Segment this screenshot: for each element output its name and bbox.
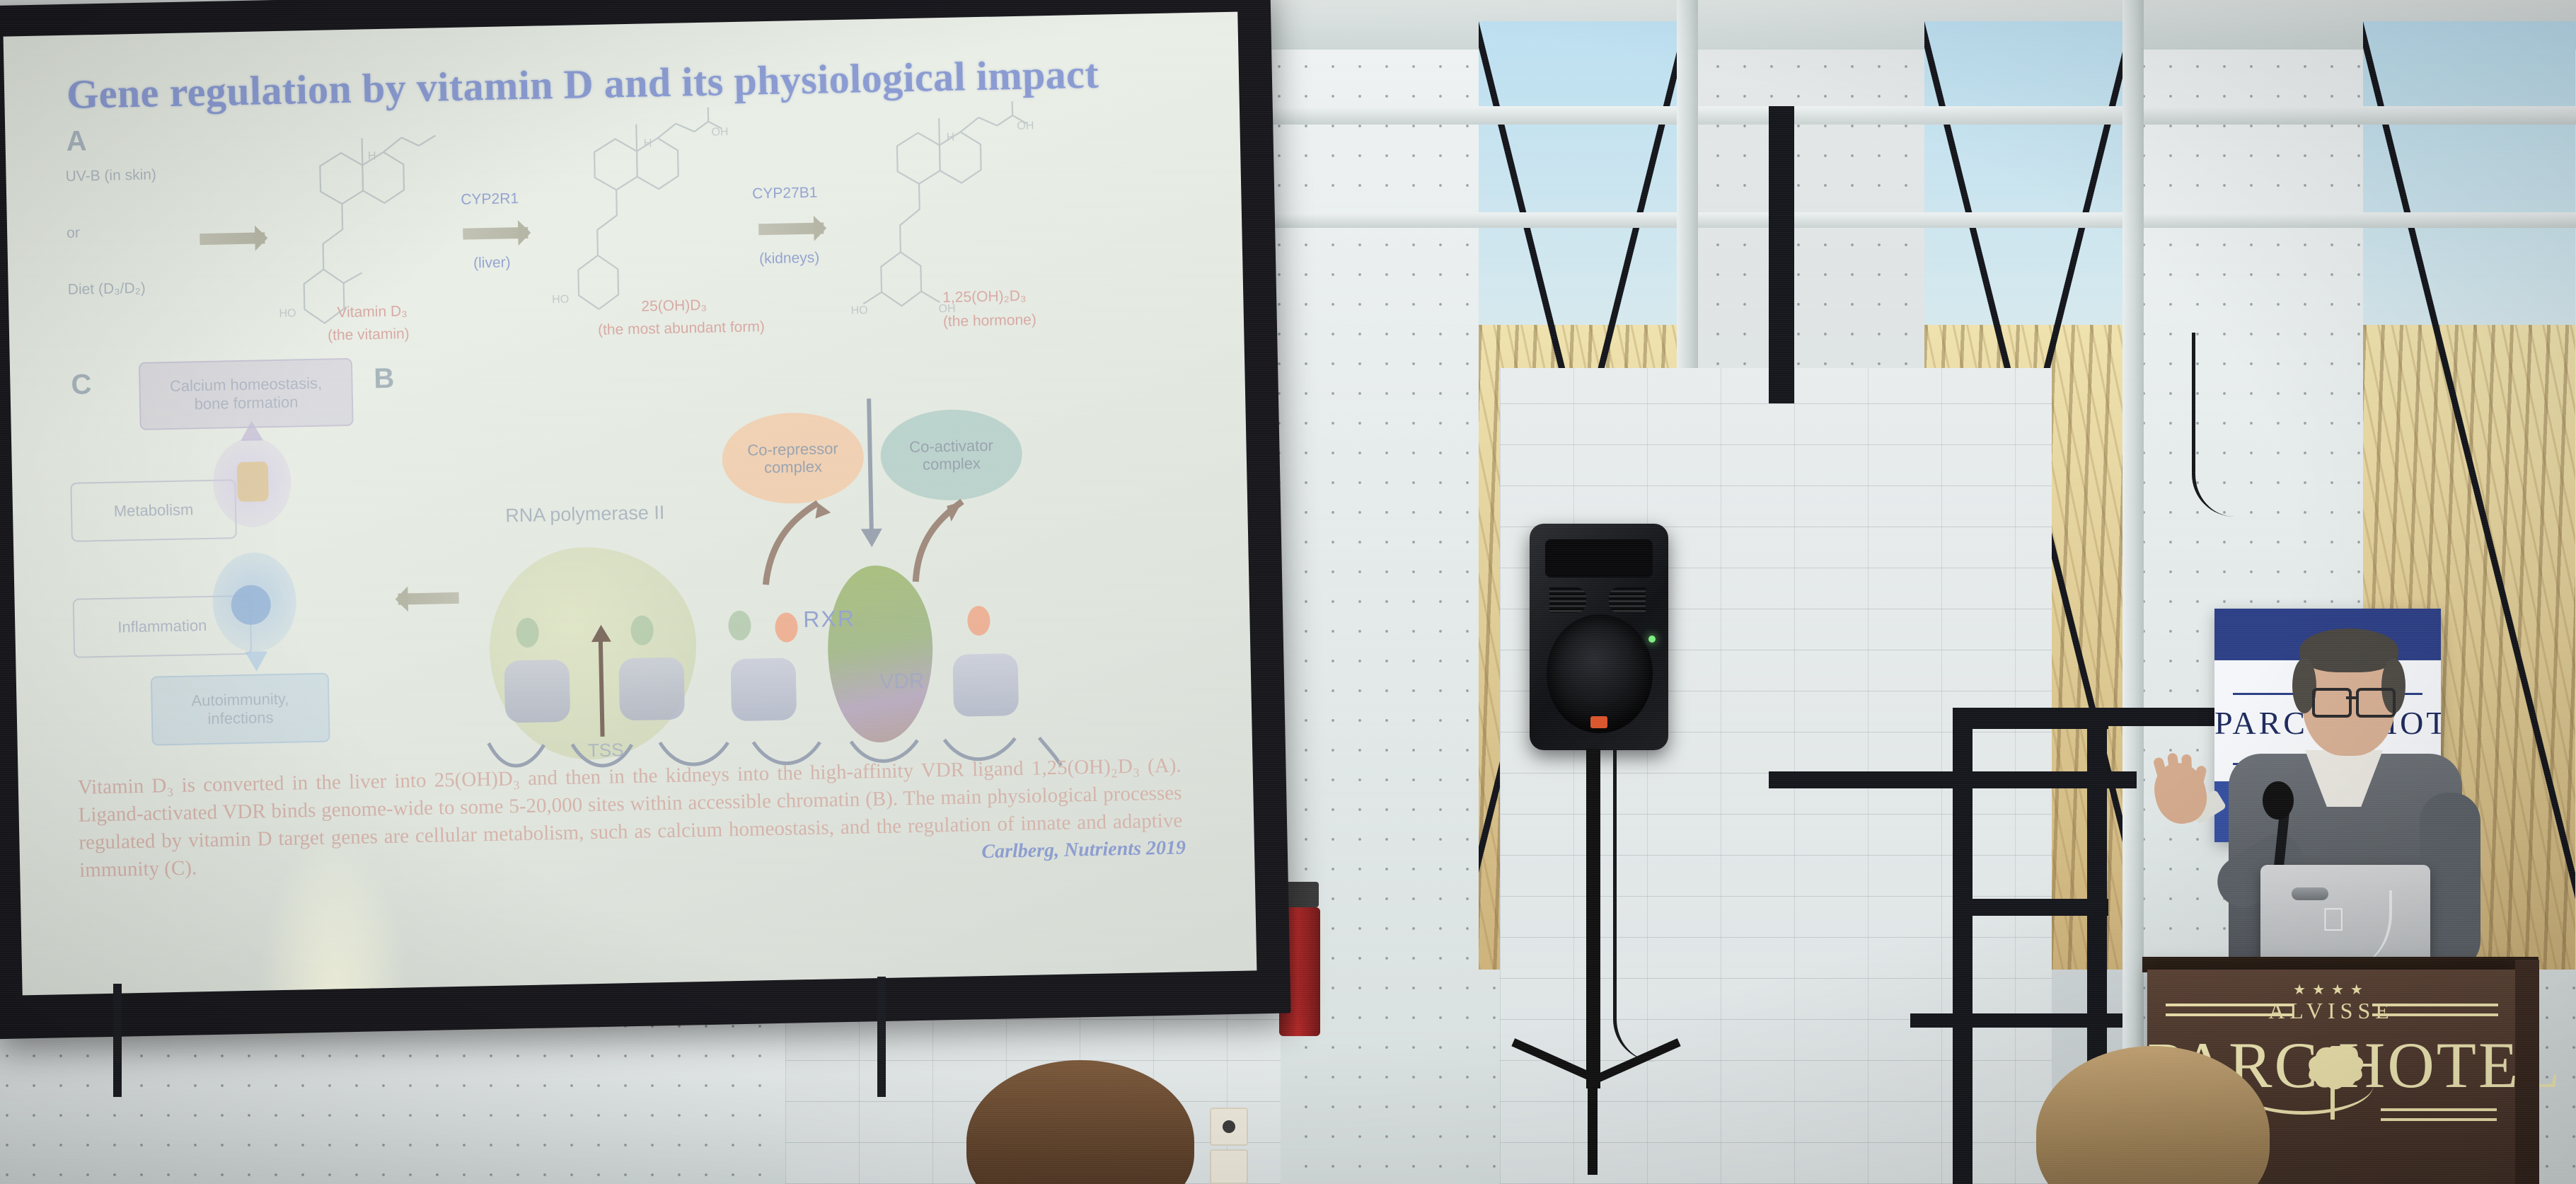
cell-icon-osteoblast-nucleus <box>237 461 269 502</box>
tss-arrow-head <box>591 625 611 643</box>
banner-word-left: PARC <box>2214 705 2308 741</box>
shelf-frame-bottom <box>1910 1013 2122 1028</box>
receptor-rxr-label: RXR <box>803 606 855 633</box>
corepressor-complex-label: Co-repressor complex <box>722 439 864 478</box>
chem-structure-25-oh-d3: H OH HO <box>544 104 732 320</box>
receptor-vdr-label: VDR <box>879 669 925 694</box>
screen-leg-left <box>113 984 122 1097</box>
panel-a-enzyme-1-organ: (liver) <box>473 254 511 272</box>
lectern-rule-top-3 <box>2372 1004 2498 1006</box>
presenter-glasses-bridge <box>2346 696 2357 699</box>
presenter-glasses-left-lens <box>2312 688 2352 718</box>
panel-a-metabolite-3-name: 1,25(OH)₂D₃ <box>942 288 1027 306</box>
panel-a-metabolite-3-note: (the hormone) <box>943 311 1036 331</box>
svg-text:HO: HO <box>552 294 569 306</box>
window-sky <box>1479 21 1691 344</box>
svg-text:OH: OH <box>711 126 728 138</box>
wall-outlet-lower[interactable] <box>1210 1149 1248 1184</box>
panel-a-metabolite-2-name: 25(OH)D₃ <box>641 297 707 316</box>
slide-caption: Vitamin D₃ is converted in the liver int… <box>78 752 1184 884</box>
panel-c-process-metabolism-label: Metabolism <box>114 500 194 521</box>
panel-a-input-diet: Diet (D₃/D₂) <box>68 280 146 299</box>
panel-c-arrow-up <box>241 420 264 441</box>
shelf-frame-mid <box>1953 899 2108 916</box>
svg-text:HO: HO <box>850 304 867 316</box>
panel-a-input-uvb: UV-B (in skin) <box>65 166 156 185</box>
presentation-photo: PARC HOTEL Besoin d'  <box>0 0 2576 1184</box>
histone-tail-orange-1 <box>775 612 798 643</box>
shelf-frame-upper-rail <box>2023 708 2236 726</box>
wall-outlet-upper[interactable] <box>1210 1108 1248 1146</box>
svg-text:H: H <box>368 150 376 162</box>
hotel-star-rating: ★★★★ <box>2147 981 2515 999</box>
window-transom-upper <box>1245 106 2576 125</box>
outlet-hole <box>1223 1120 1235 1133</box>
pa-stand-leg-center <box>1588 1076 1598 1175</box>
panel-c-arrow-down <box>245 651 268 672</box>
presenter-glasses-right-lens <box>2356 688 2396 718</box>
svg-text:H: H <box>947 132 955 144</box>
panel-c-process-inflammation-label: Inflammation <box>117 616 207 637</box>
histone-tail-green-3 <box>728 611 751 641</box>
pa-port-left <box>1549 587 1586 613</box>
panel-c-outcome-calcium-label: Calcium homeostasis, bone formation <box>170 374 323 414</box>
laptop-clip-mic <box>2292 887 2328 900</box>
projection-screen: Gene regulation by vitamin D and its phy… <box>0 0 1281 1033</box>
structural-post <box>1769 106 1794 403</box>
panel-c-outcome-autoimmunity-label: Autoimmunity, infections <box>191 689 289 729</box>
window-sky <box>2363 21 2575 344</box>
presenter-laptop[interactable]:  <box>2260 865 2430 971</box>
panel-a-enzyme-2-organ: (kidneys) <box>759 250 820 268</box>
slide: Gene regulation by vitamin D and its phy… <box>47 38 1196 924</box>
histone-tail-orange-2 <box>967 606 990 636</box>
panel-a-metabolite-2-note: (the most abundant form) <box>598 318 765 339</box>
pa-stand-column <box>1586 749 1600 1088</box>
pa-woofer <box>1547 614 1653 733</box>
shelf-frame-upper-rail2 <box>1769 771 2137 788</box>
fire-extinguisher-valve <box>1285 882 1319 907</box>
slide-citation: Carlberg, Nutrients 2019 <box>981 837 1186 863</box>
ceiling-cable-right <box>2192 333 2238 517</box>
chem-structure-vitamin-d3: H HO <box>270 121 451 330</box>
jbl-logo-icon <box>1590 716 1607 728</box>
panel-a-letter: A <box>66 125 87 158</box>
presenter-finger-3 <box>2181 754 2193 786</box>
lectern-brand-prefix: ALVISSE <box>2147 998 2515 1024</box>
lectern-rule-bottom-2 <box>2381 1108 2497 1111</box>
lectern-rule-bottom-3 <box>2381 1118 2497 1121</box>
panel-b-letter: B <box>374 363 395 396</box>
panel-a-metabolite-1-note: (the vitamin) <box>328 326 410 344</box>
window-mullion-2 <box>2122 0 2144 1184</box>
lectern-rule-top-4 <box>2372 1013 2498 1016</box>
presenter-hair <box>2299 628 2398 672</box>
window-sky <box>1924 21 2137 344</box>
rna-polymerase-label: RNA polymerase II <box>505 502 665 527</box>
pa-speaker-cable <box>1613 750 1666 1062</box>
panel-a-enzyme-2-name: CYP27B1 <box>752 185 818 203</box>
microphone-head <box>2263 781 2294 820</box>
panel-c-outcome-calcium: Calcium homeostasis, bone formation <box>139 358 354 430</box>
pa-speaker-cabinet <box>1530 524 1668 750</box>
pa-port-right <box>1609 587 1646 613</box>
panel-c-inbound-arrow <box>398 592 458 605</box>
panel-c-process-metabolism: Metabolism <box>70 479 237 542</box>
panel-a-metabolite-1-name: Vitamin D₃ <box>337 303 408 321</box>
svg-text:H: H <box>644 137 652 149</box>
panel-a-arrow-1 <box>200 232 265 245</box>
panel-a-arrow-3 <box>758 222 824 235</box>
panel-c-letter: C <box>71 369 92 401</box>
projection-screen-surface: Gene regulation by vitamin D and its phy… <box>4 12 1257 996</box>
svg-text:HO: HO <box>279 307 296 319</box>
panel-a-enzyme-1-name: CYP2R1 <box>461 190 519 209</box>
panel-a-arrow-2 <box>463 227 528 240</box>
lectern-right-side <box>2515 960 2539 1184</box>
apple-logo-icon:  <box>2321 903 2346 936</box>
pa-power-led <box>1648 636 1656 643</box>
coactivator-complex-label: Co-activator complex <box>880 436 1022 475</box>
panel-a-input-or: or <box>67 225 80 242</box>
svg-text:OH: OH <box>1017 120 1034 132</box>
panel-c-outcome-autoimmunity: Autoimmunity, infections <box>151 673 330 746</box>
pa-horn <box>1545 539 1653 577</box>
screen-leg-right <box>877 977 886 1097</box>
window-transom-lower <box>1245 212 2576 228</box>
